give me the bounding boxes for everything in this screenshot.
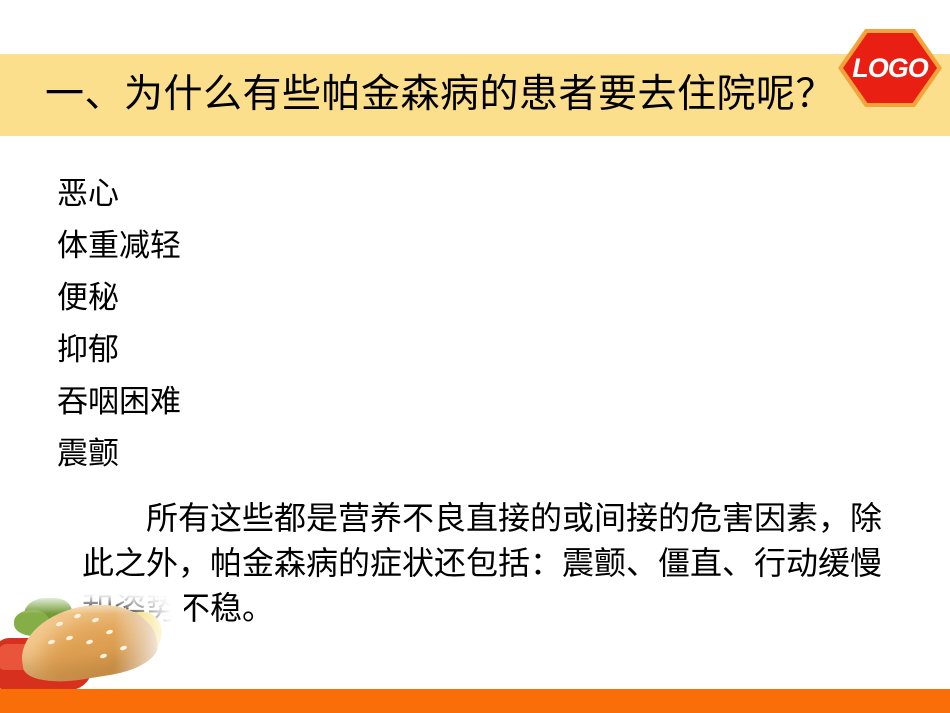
slide-canvas: 一、为什么有些帕金森病的患者要去住院呢？ LOGO 恶心 体重减轻 便秘 抑郁 … [0,0,950,713]
bottom-accent-bar [0,689,950,713]
logo-badge: LOGO [838,29,942,107]
hamburger-photo [0,592,184,692]
symptom-list: 恶心 体重减轻 便秘 抑郁 吞咽困难 震颤 [57,168,557,480]
list-item: 抑郁 [57,324,557,376]
list-item: 震颤 [57,428,557,480]
logo-label: LOGO [838,29,942,107]
page-title: 一、为什么有些帕金森病的患者要去住院呢？ [45,60,865,130]
list-item: 体重减轻 [57,220,557,272]
list-item: 便秘 [57,272,557,324]
photo-fade-top [0,592,184,614]
summary-paragraph: 所有这些都是营养不良直接的或间接的危害因素，除此之外，帕金森病的症状还包括：震颤… [82,496,882,631]
list-item: 吞咽困难 [57,376,557,428]
list-item: 恶心 [57,168,557,220]
